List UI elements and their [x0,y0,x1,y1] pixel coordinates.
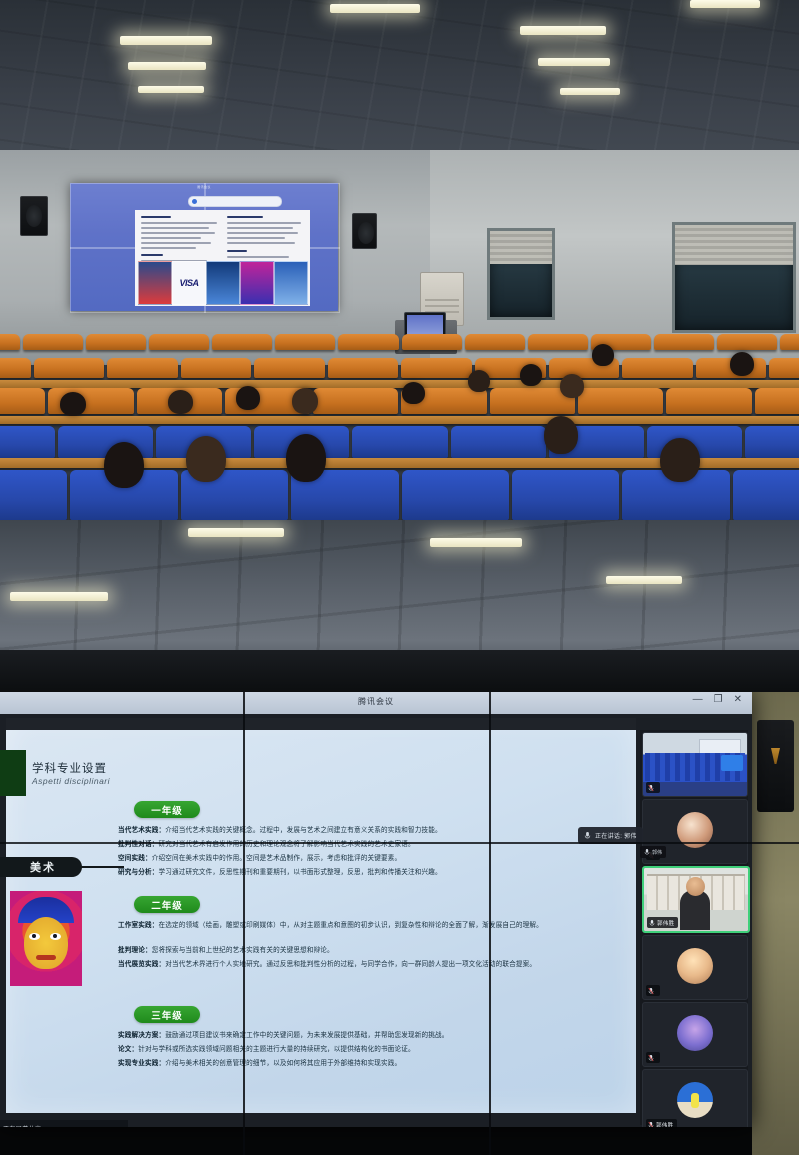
mic-icon [649,919,655,927]
term: 工作室实践： [118,922,158,929]
subject-pill: 美术 [0,857,82,877]
participant-tile[interactable] [642,732,748,797]
participant-nametag: 郭伟胜 [646,1119,677,1127]
screen-share-label: 正在屏幕共享 [0,1124,41,1128]
sharing-badge-icon [721,755,743,771]
audience-head [544,416,578,454]
participant-nametag [646,782,660,793]
seat-row [0,334,799,350]
projected-image-strip: VISA [138,261,308,305]
term: 当代展览实践： [118,961,165,968]
term: 研究与分析： [118,869,158,876]
year-1-item-4: 研究与分析：学习通过研究文件，反思性期刊和重要期刊，以书面形式整理，反思，批判和… [118,868,582,879]
ceiling-light [606,576,682,584]
maximize-button[interactable]: ❐ [714,695,723,705]
participant-avatar [677,1015,713,1051]
year-pill-3-label: 三年级 [151,1008,183,1022]
term: 实践解决方案： [118,1032,165,1039]
year-1-item-3: 空间实践：介绍空间在美术实践中的作用。空间是艺术品制作，展示，考虑和批评的关键要… [118,854,582,865]
text: 介绍与美术相关的创意管理的细节，以及如何将其应用于外部维持和实现实践。 [165,1060,401,1067]
audience-head [468,370,490,392]
term: 空间实践： [118,855,152,862]
ceiling-light [690,0,760,8]
tencent-meeting-window: 腾讯会议 — ❐ ✕ 学科专业设置 Aspetti disciplinari 美 [0,692,752,1127]
audience-head [286,434,326,482]
speaker-mini-badge: 郭伟 [640,846,666,858]
desk-row [0,380,799,388]
year-3-item-1: 实践解决方案：鼓励通过项目建议书来确定工作中的关键问题，为未来发展提供基础，并帮… [118,1031,582,1042]
slide-heading-it: Aspetti disciplinari [32,776,110,786]
year-pill-1-label: 一年级 [151,803,183,817]
audience-head [660,438,700,482]
year-2-item-1: 工作室实践：在选定的领域（绘画，雕塑或印刷媒体）中，从对主题重点和意图的初步认识… [118,921,582,932]
projector-screen: 腾讯会议 [70,183,338,311]
ceiling-light [188,528,284,537]
year-3-item-2: 论文：针对与学科或所选实践领域问题相关的主题进行大量的持续研究，以提供结构化的书… [118,1045,582,1056]
wall-speaker [757,720,794,812]
participant-avatar [677,1082,713,1118]
audience-head [292,388,318,414]
year-3-item-3: 实现专业实践：介绍与美术相关的创意管理的细节，以及如何将其应用于外部维持和实现实… [118,1059,582,1070]
ceiling-light [430,538,522,547]
window-controls: — ❐ ✕ [693,695,742,705]
audience-head [592,344,614,366]
audience-head [520,364,542,386]
audience-head [60,392,86,416]
term: 论文： [118,1046,138,1053]
desk-row [0,416,799,424]
artwork-thumbnail [10,891,82,986]
participant-tile-active-speaker[interactable]: 郭伟胜 [642,866,750,933]
audience-head [730,352,754,376]
seat-row [0,388,799,414]
ceiling-light [120,36,212,45]
participant-nametag [646,985,660,996]
text: 学习通过研究文件，反思性期刊和重要期刊，以书面形式整理，反思，批判和传播关注和兴… [158,869,441,876]
term: 当代艺术实践： [118,827,165,834]
videowall-seam [243,692,245,1155]
ceiling-light [560,88,620,95]
participant-tile[interactable] [642,935,748,1000]
hall-window [487,228,555,320]
year-pill-1: 一年级 [134,801,200,818]
participant-nametag: 郭伟胜 [647,917,678,928]
audience-head [402,382,425,404]
artwork-face [24,917,68,969]
display-photo: 腾讯会议 — ❐ ✕ 学科专业设置 Aspetti disciplinari 美 [0,692,799,1155]
mic-muted-icon [648,987,654,995]
mic-muted-icon [648,1121,654,1128]
year-pill-2: 二年级 [134,896,200,913]
projected-search-bar [188,196,282,207]
seating-area [0,330,799,520]
audience-head [236,386,260,410]
participant-nametag [646,1052,660,1063]
minimize-button[interactable]: — [693,695,703,705]
text: 介绍当代艺术实践的关键概念。过程中，发展与艺术之间建立有意义关系的实践和智力技能… [165,827,442,834]
text: 在选定的领域（绘画，雕塑或印刷媒体）中，从对主题重点和意图的初步认识，到复杂性和… [158,922,542,929]
window-title: 腾讯会议 [0,696,752,707]
window-titlebar: 腾讯会议 — ❐ ✕ [0,692,752,714]
text: 介绍空间在美术实践中的作用。空间是艺术品制作，展示，考虑和批评的关键要素。 [152,855,402,862]
year-pill-3: 三年级 [134,1006,200,1023]
mic-muted-icon [648,784,654,792]
audience-head [560,374,584,398]
second-photo-ceiling [0,520,799,692]
participant-tile[interactable] [642,1002,748,1067]
text: 针对与学科或所选实践领域问题相关的主题进行大量的持续研究，以提供结构化的书面论证… [138,1046,415,1053]
ceiling-light [138,86,204,93]
shared-slide: 学科专业设置 Aspetti disciplinari 美术 [6,718,636,1113]
participant-name: 郭伟胜 [657,919,674,927]
ceiling-light [10,592,108,601]
participant-avatar [677,948,713,984]
wall-speaker [352,213,377,249]
lecture-hall-photo: 腾讯会议 [0,0,799,520]
mic-icon [644,848,650,856]
text: 对当代艺术界进行个人实地研究。通过反思和批判性分析的过程，与同学合作，向一群同龄… [165,961,536,968]
participant-tile[interactable]: 郭伟胜 [642,1069,748,1127]
year-1-item-1: 当代艺术实践：介绍当代艺术实践的关键概念。过程中，发展与艺术之间建立有意义关系的… [118,826,582,837]
screenshot-root: 腾讯会议 [0,0,799,1155]
slide-accent-block [0,750,26,796]
close-button[interactable]: ✕ [734,695,742,705]
participant-video-strip[interactable]: 郭伟胜 [640,730,748,1125]
term: 批判理论： [118,947,152,954]
speaker-mini-label: 郭伟 [652,849,662,856]
visa-logo: VISA [172,261,206,305]
wall-speaker [20,196,48,236]
meeting-body: 学科专业设置 Aspetti disciplinari 美术 [0,714,752,1127]
seat-row [0,358,799,378]
videowall-seam [489,692,491,1155]
dark-gap [0,650,799,692]
year-pill-2-label: 二年级 [151,898,183,912]
year-2-item-3: 当代展览实践：对当代艺术界进行个人实地研究。通过反思和批判性分析的过程，与同学合… [118,960,582,971]
mic-muted-icon [648,1054,654,1062]
year-2-item-2: 批判理论：您将探索与当前和上世纪的艺术实践有关的关键思想和辩论。 [118,946,582,957]
audience-head [168,390,193,414]
text: 鼓励通过项目建议书来确定工作中的关键问题，为未来发展提供基础，并帮助您发现新的挑… [165,1032,448,1039]
ceiling-grid [0,0,799,175]
ceiling-light [330,4,420,13]
ceiling-light [538,58,610,66]
slide-top-band [6,718,636,730]
mic-icon [584,831,591,840]
term: 实现专业实践： [118,1060,165,1067]
audience-head [186,436,226,482]
hall-window [672,222,796,333]
active-speaker-label: 正在讲话: 郭伟 [595,831,637,840]
screen-share-indicator: 正在屏幕共享 [0,1120,128,1127]
audience-head [104,442,144,488]
speaker-person [680,890,710,930]
videowall-seam [0,842,799,844]
window-blind [490,231,552,264]
subject-pill-label: 美术 [12,859,56,875]
participant-name: 郭伟胜 [656,1121,673,1128]
slide-heading-cn: 学科专业设置 [32,760,107,776]
ceiling-light [520,26,606,35]
window-blind [675,225,793,265]
ceiling-light [128,62,206,70]
